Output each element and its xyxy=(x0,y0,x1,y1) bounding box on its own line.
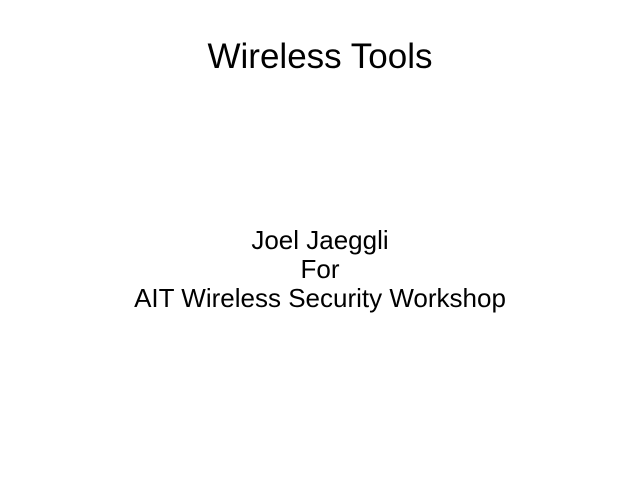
slide-subtitle-block: Joel Jaeggli For AIT Wireless Security W… xyxy=(0,226,640,313)
slide-title: Wireless Tools xyxy=(0,36,640,78)
subtitle-line-author: Joel Jaeggli xyxy=(0,226,640,255)
subtitle-line-connector: For xyxy=(0,255,640,284)
presentation-slide: Wireless Tools Joel Jaeggli For AIT Wire… xyxy=(0,0,640,480)
subtitle-line-event: AIT Wireless Security Workshop xyxy=(0,284,640,313)
